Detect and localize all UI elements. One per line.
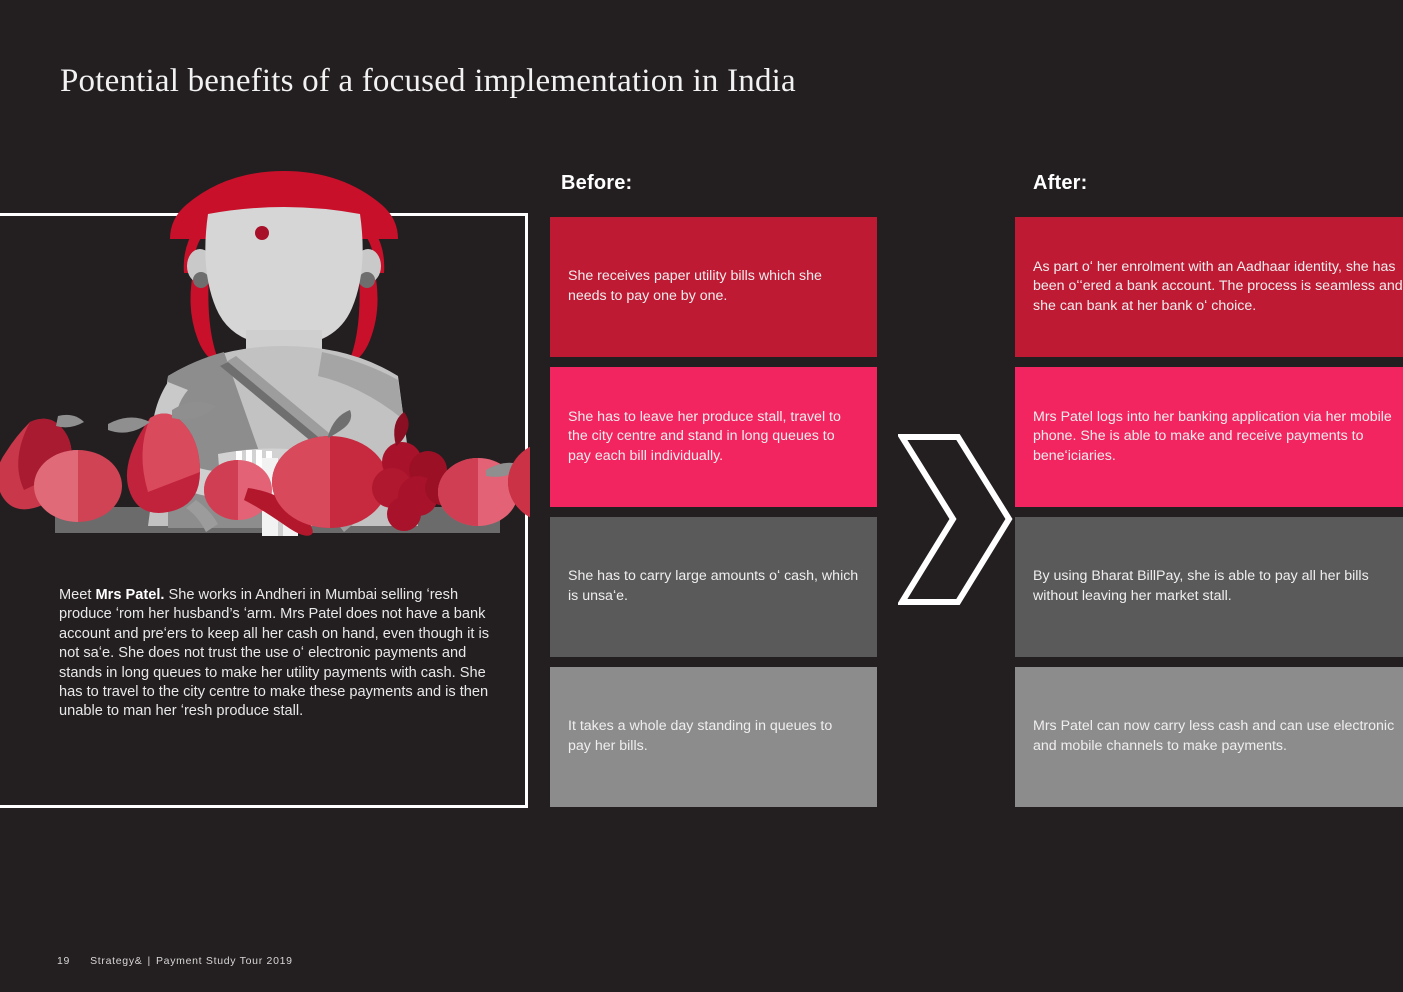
persona-caption: Meet Mrs Patel. She works in Andheri in … — [59, 586, 491, 722]
after-card-3: By using Bharat BillPay, she is able to … — [1015, 517, 1403, 657]
footer-brand: Strategy& — [90, 955, 142, 967]
before-card-2-text: She has to leave her produce stall, trav… — [568, 408, 859, 467]
after-card-1-text: As part oʻ her enrolment with an Aadhaar… — [1033, 258, 1403, 317]
after-card-2: Mrs Patel logs into her banking applicat… — [1015, 367, 1403, 507]
after-card-1: As part oʻ her enrolment with an Aadhaar… — [1015, 217, 1403, 357]
footer-document: Payment Study Tour 2019 — [156, 955, 293, 967]
after-column-heading: After: — [1033, 172, 1088, 195]
page-title: Potential benefits of a focused implemen… — [60, 63, 796, 100]
before-card-3: She has to carry large amounts oʻ cash, … — [550, 517, 877, 657]
before-card-4-text: It takes a whole day standing in queues … — [568, 717, 859, 756]
caption-body: She works in Andheri in Mumbai selling ʻ… — [59, 587, 489, 719]
footer: 19Strategy&|Payment Study Tour 2019 — [57, 955, 293, 967]
footer-separator: | — [148, 955, 151, 967]
persona-name: Mrs Patel. — [96, 587, 165, 603]
footer-page-number: 19 — [57, 955, 70, 967]
after-card-3-text: By using Bharat BillPay, she is able to … — [1033, 567, 1403, 606]
before-card-1: She receives paper utility bills which s… — [550, 217, 877, 357]
after-card-2-text: Mrs Patel logs into her banking applicat… — [1033, 408, 1403, 467]
before-column: She receives paper utility bills which s… — [550, 217, 877, 817]
before-card-2: She has to leave her produce stall, trav… — [550, 367, 877, 507]
after-card-4: Mrs Patel can now carry less cash and ca… — [1015, 667, 1403, 807]
caption-lead: Meet — [59, 587, 96, 603]
after-card-4-text: Mrs Patel can now carry less cash and ca… — [1033, 717, 1403, 756]
before-card-3-text: She has to carry large amounts oʻ cash, … — [568, 567, 859, 606]
before-card-4: It takes a whole day standing in queues … — [550, 667, 877, 807]
chevron-right-icon — [898, 432, 1013, 607]
after-column: As part oʻ her enrolment with an Aadhaar… — [1015, 217, 1403, 817]
before-card-1-text: She receives paper utility bills which s… — [568, 267, 859, 306]
before-column-heading: Before: — [561, 172, 632, 195]
